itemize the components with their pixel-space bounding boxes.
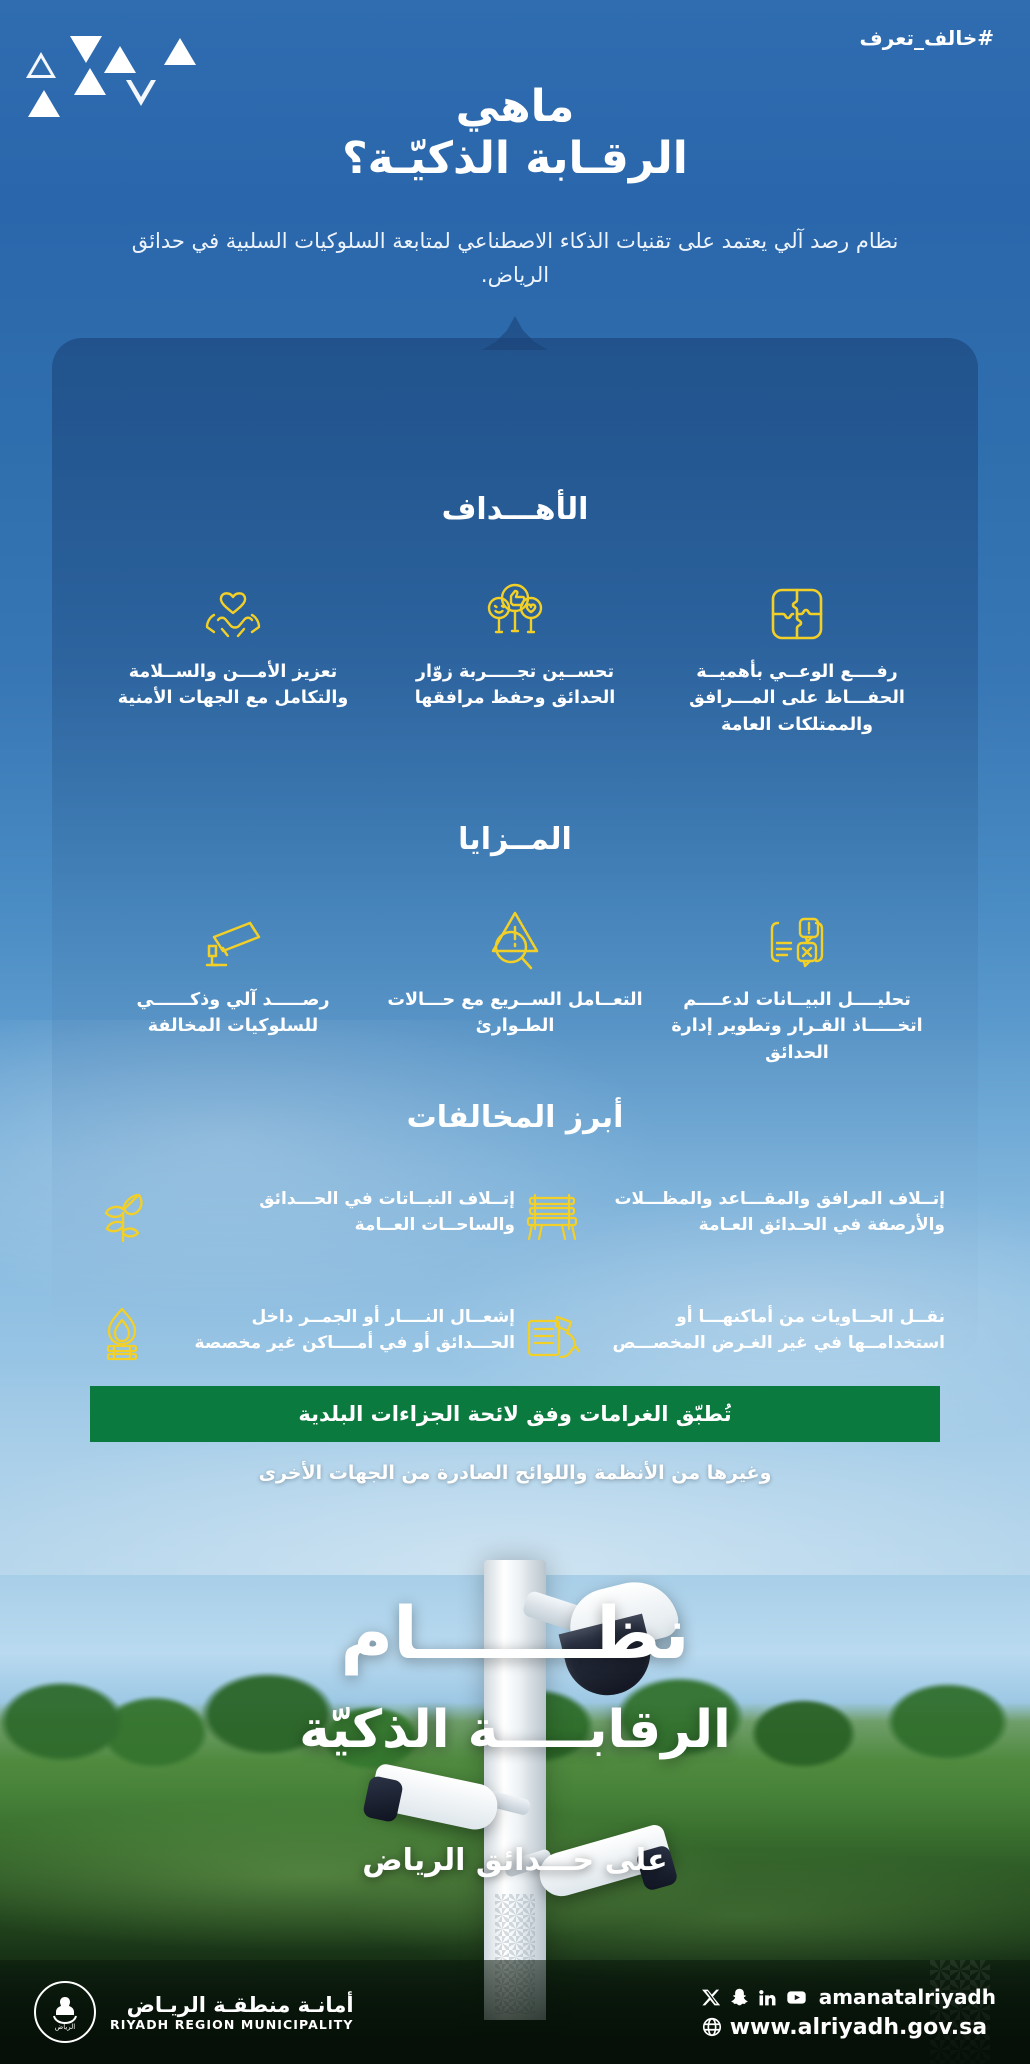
website-line: www.alriyadh.gov.sa: [701, 2012, 996, 2042]
goal-item-3: رفــــع الوعــي بأهميــة الحفـــاظ على ا…: [656, 571, 938, 738]
headline-line-2: الرقـابة الذكيّـة؟: [0, 131, 1030, 186]
open-fire-icon: [85, 1299, 159, 1373]
brand-name-en: RIYADH REGION MUNICIPALITY: [110, 2017, 354, 2032]
youtube-icon[interactable]: [785, 1987, 808, 2008]
campaign-hashtag: #خالف_تعرف: [860, 26, 994, 50]
page-title: ماهي الرقـابة الذكيّـة؟: [0, 82, 1030, 186]
goal-item-2: تحســين تجـــــربة زوّار الحدائق وحفظ مر…: [374, 571, 656, 738]
violations-row-2: إشعــال النــــار أو الجمــر داخل الحـــ…: [52, 1299, 978, 1373]
violation-item-4-text: نقــل الحــاويات من أماكنهـــا أو استخدا…: [603, 1299, 945, 1356]
violation-item-1-text: إتــلاف النبــاتات في الحـــدائق والساحـ…: [173, 1181, 515, 1238]
goals-title: الأهـــداف: [52, 492, 978, 527]
brand-name-ar: أمانـة منطقـة الريـاض: [110, 1993, 354, 2017]
goal-item-1: تعزيز الأمـــن والســلامة والتكامل مع ال…: [92, 571, 374, 738]
triangle-outline-up-icon: [26, 52, 56, 78]
infographic-poster: #خالف_تعرف ماهي الرقـابة الذكيّـة؟ نظام …: [0, 0, 1030, 2064]
goals-section: الأهـــداف تعزيز الأمـــن والســلامة وال…: [52, 492, 978, 738]
triangle-filled-up-icon-3: [164, 38, 196, 65]
bench-damage-icon: [515, 1181, 589, 1255]
violations-section: أبرز المخالفات إتــلاف النبــاتات في الح…: [52, 1100, 978, 1373]
violation-item-2-text: إتــلاف المرافق والمقـــاعد والمظـــلات …: [603, 1181, 945, 1238]
fines-banner: تُطبّق الغرامات وفق لائحة الجزاءات البلد…: [90, 1386, 940, 1442]
violations-title: أبرز المخالفات: [52, 1100, 978, 1135]
triangle-filled-up-icon: [104, 46, 136, 73]
headline-line-1: ماهي: [0, 82, 1030, 131]
benefit-item-3: تحليــــل البيــانات لدعــــم اتخـــــاذ…: [656, 899, 938, 1066]
x-icon[interactable]: [701, 1987, 722, 2008]
social-block: amanatalriyadh www.alriyadh.gov.sa: [701, 1982, 996, 2042]
snapchat-icon[interactable]: [729, 1987, 750, 2008]
violations-row-1: إتــلاف النبــاتات في الحـــدائق والساحـ…: [52, 1181, 978, 1255]
violation-item-3: إشعــال النــــار أو الجمــر داخل الحـــ…: [85, 1299, 515, 1373]
violation-item-3-text: إشعــال النــــار أو الجمــر داخل الحـــ…: [173, 1299, 515, 1356]
triangle-filled-down-icon: [70, 36, 102, 63]
goal-item-1-text: تعزيز الأمـــن والســلامة والتكامل مع ال…: [102, 659, 364, 712]
smart-pole: [484, 1560, 546, 2020]
social-handles-line: amanatalriyadh: [701, 1982, 996, 2012]
violation-item-2: إتــلاف المرافق والمقـــاعد والمظـــلات …: [515, 1181, 945, 1255]
handshake-care-icon: [102, 571, 364, 643]
benefits-list: رصـــــد آلي وذكــــــي للسلوكيات المخال…: [52, 899, 978, 1066]
benefits-section: المــزايا رصـــــد آلي وذكــــــي للسلوك…: [52, 822, 978, 1066]
benefit-item-2: التعــامل الســريع مع حـــالات الطـوارئ: [374, 899, 656, 1066]
violation-item-1: إتــلاف النبــاتات في الحـــدائق والساحـ…: [85, 1181, 515, 1255]
globe-icon: [701, 2016, 723, 2038]
container-move-icon: [515, 1299, 589, 1373]
other-regulations-note: وغيرها من الأنظمة واللوائح الصادرة من ال…: [0, 1462, 1030, 1484]
data-analysis-icon: [666, 899, 928, 971]
fines-banner-text: تُطبّق الغرامات وفق لائحة الجزاءات البلد…: [298, 1402, 731, 1426]
svg-text:الرياض: الرياض: [55, 2023, 76, 2031]
linkedin-icon[interactable]: [757, 1987, 778, 2008]
benefit-item-3-text: تحليــــل البيــانات لدعــــم اتخـــــاذ…: [666, 987, 928, 1066]
satisfaction-feedback-icon: [384, 571, 646, 643]
benefit-item-1-text: رصـــــد آلي وذكــــــي للسلوكيات المخال…: [102, 987, 364, 1040]
plant-damage-icon: [85, 1181, 159, 1255]
footer-bar: الرياض أمانـة منطقـة الريـاض RIYADH REGI…: [0, 1960, 1030, 2064]
benefit-item-2-text: التعــامل الســريع مع حـــالات الطـوارئ: [384, 987, 646, 1040]
goals-list: تعزيز الأمـــن والســلامة والتكامل مع ال…: [52, 571, 978, 738]
goal-item-2-text: تحســين تجـــــربة زوّار الحدائق وحفظ مر…: [384, 659, 646, 712]
brand-lockup: الرياض أمانـة منطقـة الريـاض RIYADH REGI…: [34, 1981, 354, 2043]
website-url[interactable]: www.alriyadh.gov.sa: [730, 2015, 987, 2040]
social-handle[interactable]: amanatalriyadh: [819, 1985, 996, 2009]
violation-item-4: نقــل الحــاويات من أماكنهـــا أو استخدا…: [515, 1299, 945, 1373]
cctv-camera-icon: [102, 899, 364, 971]
intro-paragraph: نظام رصد آلي يعتمد على تقنيات الذكاء الا…: [118, 224, 912, 292]
card-arch-notch: [482, 316, 548, 350]
brand-text: أمانـة منطقـة الريـاض RIYADH REGION MUNI…: [110, 1993, 354, 2032]
riyadh-municipality-logo-icon: الرياض: [34, 1981, 96, 2043]
emergency-alert-icon: [384, 899, 646, 971]
benefit-item-1: رصـــــد آلي وذكــــــي للسلوكيات المخال…: [92, 899, 374, 1066]
benefits-title: المــزايا: [52, 822, 978, 857]
puzzle-awareness-icon: [666, 571, 928, 643]
goal-item-3-text: رفــــع الوعــي بأهميــة الحفـــاظ على ا…: [666, 659, 928, 738]
